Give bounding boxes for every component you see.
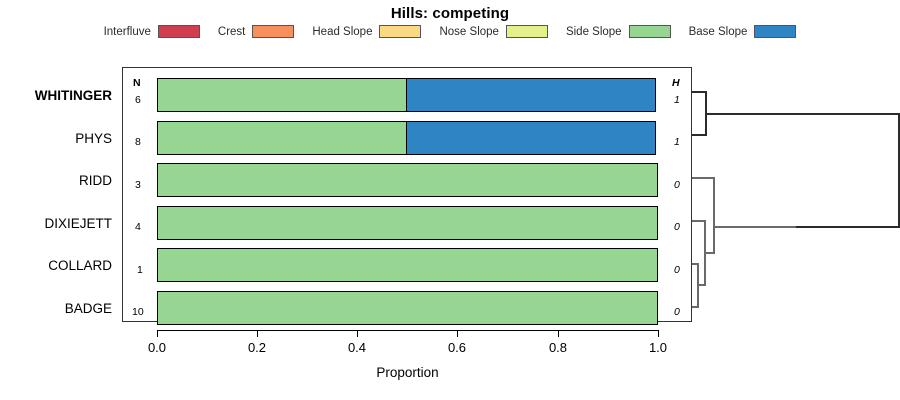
legend-item-interfluve[interactable]: Interfluve <box>104 25 200 38</box>
h-value-badge: 0 <box>674 306 680 318</box>
x-axis-tick-label: 0.4 <box>335 340 379 355</box>
x-axis-tick <box>457 330 458 337</box>
legend-swatch-head-slope <box>379 25 421 38</box>
x-axis-tick-label: 0.0 <box>135 340 179 355</box>
n-value-phys: 8 <box>135 136 141 148</box>
page-title: Hills: competing <box>0 5 900 22</box>
bar-row-dixiejett[interactable] <box>157 206 658 240</box>
bar-segment-side-slope[interactable] <box>157 78 408 112</box>
x-axis-line <box>157 330 658 331</box>
legend-swatch-nose-slope <box>506 25 548 38</box>
x-axis-tick-label: 0.8 <box>536 340 580 355</box>
x-axis-tick <box>357 330 358 337</box>
row-label-collard: COLLARD <box>48 258 112 273</box>
legend-label-crest: Crest <box>218 26 245 38</box>
n-value-badge: 10 <box>132 306 144 318</box>
x-axis-tick <box>157 330 158 337</box>
h-value-whitinger: 1 <box>674 94 680 106</box>
h-value-ridd: 0 <box>674 179 680 191</box>
dendrogram-merge-m2 <box>692 264 698 307</box>
legend-label-interfluve: Interfluve <box>104 26 151 38</box>
legend-swatch-interfluve <box>158 25 200 38</box>
legend-item-crest[interactable]: Crest <box>218 25 294 38</box>
x-axis-tick-label: 1.0 <box>636 340 680 355</box>
bar-row-collard[interactable] <box>157 248 658 282</box>
bar-row-ridd[interactable] <box>157 163 658 197</box>
legend-label-side-slope: Side Slope <box>566 26 622 38</box>
legend-swatch-crest <box>252 25 294 38</box>
n-value-collard: 1 <box>137 264 143 276</box>
x-axis-tick <box>257 330 258 337</box>
bar-segment-side-slope[interactable] <box>157 206 658 240</box>
legend-item-nose-slope[interactable]: Nose Slope <box>439 25 547 38</box>
h-value-collard: 0 <box>674 264 680 276</box>
bar-segment-base-slope[interactable] <box>406 121 657 155</box>
bar-segment-base-slope[interactable] <box>406 78 657 112</box>
legend-item-side-slope[interactable]: Side Slope <box>566 25 671 38</box>
legend: Interfluve Crest Head Slope Nose Slope S… <box>0 25 900 38</box>
legend-swatch-base-slope <box>754 25 796 38</box>
x-axis-tick-label: 0.2 <box>235 340 279 355</box>
dendrogram-merge-m5 <box>706 114 899 227</box>
bar-row-phys[interactable] <box>157 121 658 155</box>
bar-segment-side-slope[interactable] <box>157 121 408 155</box>
row-label-badge: BADGE <box>65 301 112 316</box>
legend-swatch-side-slope <box>629 25 671 38</box>
h-value-dixiejett: 0 <box>674 221 680 233</box>
dendrogram-merge-m4 <box>692 178 714 253</box>
bar-segment-side-slope[interactable] <box>157 291 658 325</box>
row-label-dixiejett: DIXIEJETT <box>44 216 112 231</box>
bar-segment-side-slope[interactable] <box>157 248 658 282</box>
legend-item-head-slope[interactable]: Head Slope <box>312 25 421 38</box>
x-axis-tick-label: 0.6 <box>435 340 479 355</box>
bar-row-whitinger[interactable] <box>157 78 658 112</box>
legend-label-nose-slope: Nose Slope <box>439 26 498 38</box>
legend-label-base-slope: Base Slope <box>689 26 748 38</box>
row-label-ridd: RIDD <box>79 173 112 188</box>
bar-row-badge[interactable] <box>157 291 658 325</box>
x-axis-tick <box>658 330 659 337</box>
h-value-phys: 1 <box>674 136 680 148</box>
dendrogram-merge-m1 <box>692 92 706 135</box>
n-column-header: N <box>133 77 141 89</box>
dendrogram-svg <box>692 67 900 322</box>
n-value-dixiejett: 4 <box>135 221 141 233</box>
bar-segment-side-slope[interactable] <box>157 163 658 197</box>
x-axis-title: Proportion <box>157 365 658 380</box>
n-value-whitinger: 6 <box>135 94 141 106</box>
dendrogram <box>692 67 900 322</box>
legend-item-base-slope[interactable]: Base Slope <box>689 25 797 38</box>
legend-label-head-slope: Head Slope <box>312 26 372 38</box>
x-axis-tick <box>558 330 559 337</box>
row-label-whitinger: WHITINGER <box>35 88 112 103</box>
row-label-phys: PHYS <box>75 131 112 146</box>
n-value-ridd: 3 <box>135 179 141 191</box>
h-column-header: H <box>672 77 680 89</box>
